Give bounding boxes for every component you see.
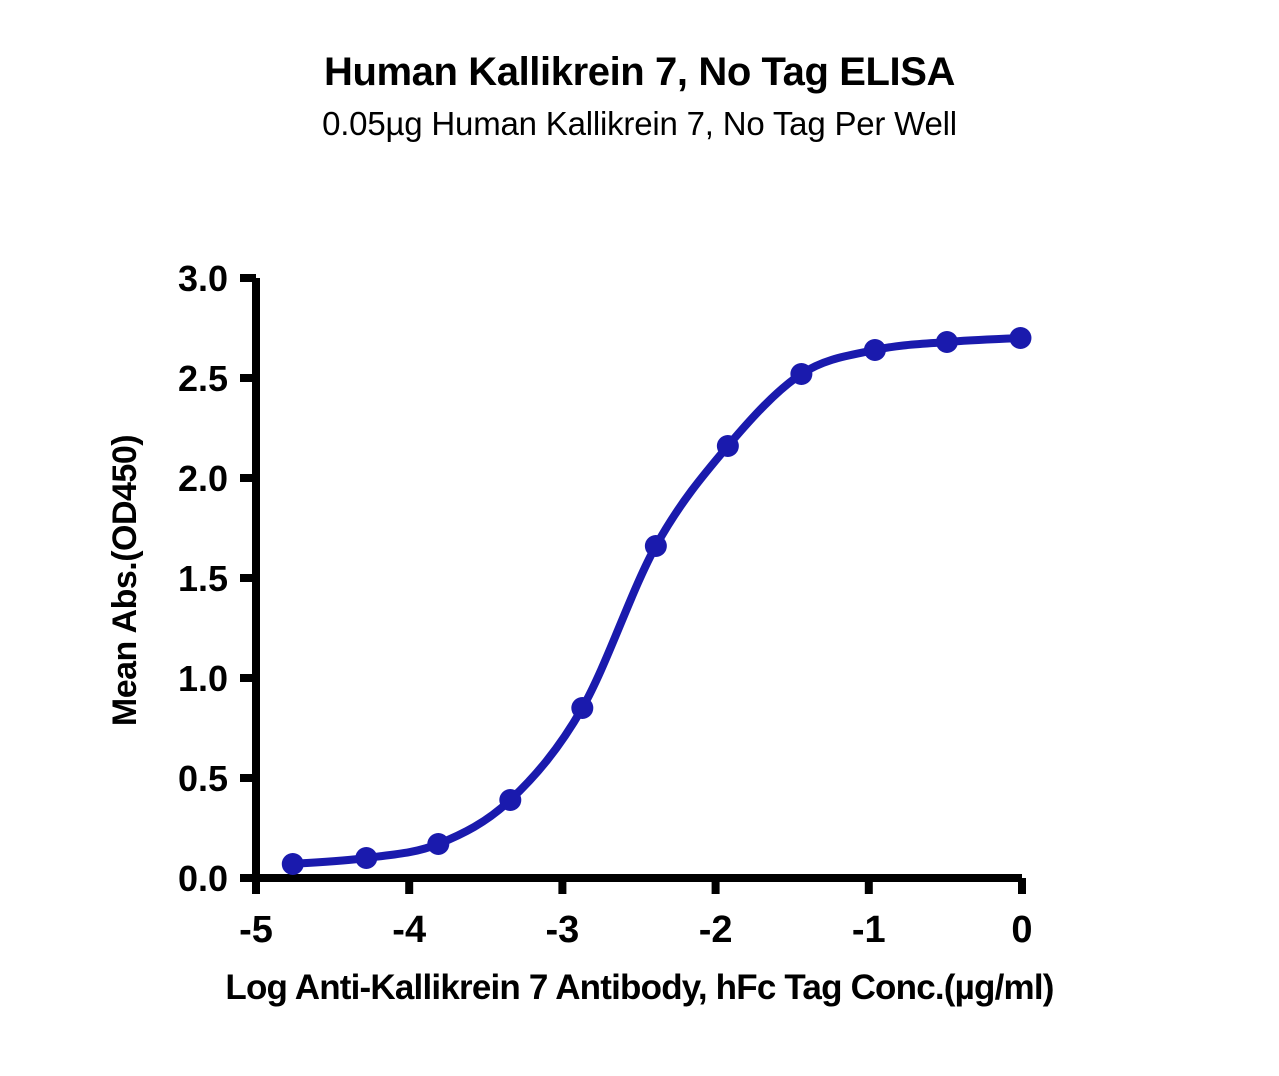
data-series [282, 327, 1032, 875]
data-point-marker[interactable] [936, 331, 958, 353]
y-tick-label: 2.5 [178, 358, 228, 399]
x-tick-label: -1 [852, 909, 886, 951]
data-point-marker[interactable] [282, 853, 304, 875]
y-tick-label: 1.5 [178, 558, 228, 599]
y-axis-ticks: 0.00.51.01.52.02.53.0 [178, 258, 256, 899]
y-tick-label: 1.0 [178, 658, 228, 699]
data-point-marker[interactable] [355, 847, 377, 869]
elisa-chart-figure: Human Kallikrein 7, No Tag ELISA 0.05µg … [0, 0, 1279, 1076]
y-tick-label: 0.0 [178, 858, 228, 899]
y-tick-label: 3.0 [178, 258, 228, 299]
x-axis-ticks: -5-4-3-2-10 [239, 878, 1032, 951]
data-point-marker[interactable] [864, 339, 886, 361]
series-line [293, 338, 1021, 864]
data-point-marker[interactable] [717, 435, 739, 457]
plot-area: 0.00.51.01.52.02.53.0 -5-4-3-2-10 [0, 0, 1279, 1076]
data-point-marker[interactable] [427, 833, 449, 855]
x-tick-label: -2 [699, 909, 733, 951]
data-point-marker[interactable] [790, 363, 812, 385]
data-point-marker[interactable] [499, 789, 521, 811]
data-point-marker[interactable] [1009, 327, 1031, 349]
x-tick-label: -3 [546, 909, 580, 951]
x-tick-label: -5 [239, 909, 273, 951]
x-tick-label: -4 [392, 909, 426, 951]
x-tick-label: 0 [1011, 909, 1032, 951]
y-tick-label: 2.0 [178, 458, 228, 499]
data-point-marker[interactable] [645, 535, 667, 557]
y-tick-label: 0.5 [178, 758, 228, 799]
data-point-marker[interactable] [571, 697, 593, 719]
